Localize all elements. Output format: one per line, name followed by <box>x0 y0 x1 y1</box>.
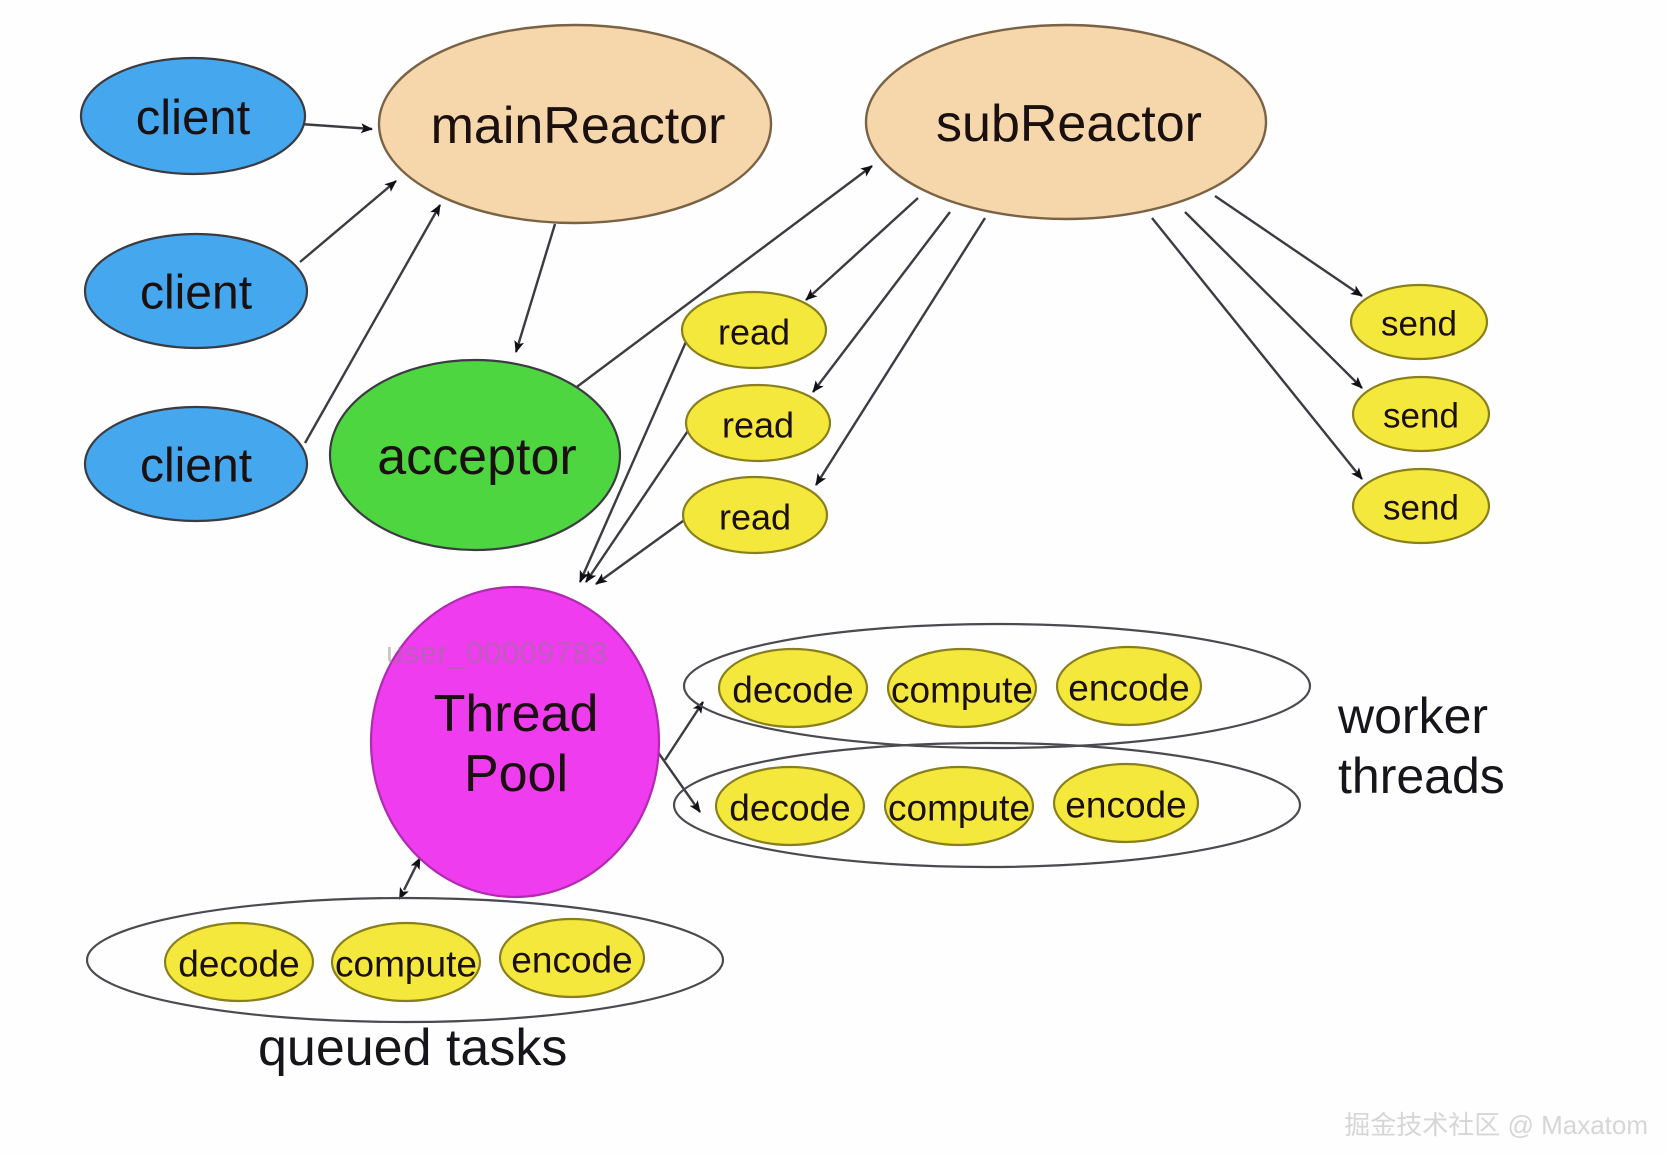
thread-pool-label-line1: Thread <box>434 685 599 743</box>
read-3-label: read <box>719 497 791 538</box>
wt2-decode-label: decode <box>729 788 850 829</box>
send-1-label: send <box>1381 305 1457 344</box>
node-read-1[interactable]: read <box>682 292 826 368</box>
wt1-encode-label: encode <box>1068 668 1189 709</box>
queued-tasks-label: queued tasks <box>258 1019 567 1077</box>
node-wt1-decode[interactable]: decode <box>719 649 867 727</box>
diagram-canvas: client client client mainReactor subReac… <box>0 0 1668 1156</box>
qt-compute-label: compute <box>335 944 477 985</box>
node-qt-encode[interactable]: encode <box>500 919 644 997</box>
wt2-encode-label: encode <box>1065 785 1186 826</box>
read-2-label: read <box>722 405 794 446</box>
qt-encode-label: encode <box>511 940 632 981</box>
worker-threads-label-line1: worker <box>1337 688 1488 744</box>
node-qt-decode[interactable]: decode <box>165 923 313 1001</box>
node-wt2-compute[interactable]: compute <box>885 767 1033 845</box>
node-wt2-decode[interactable]: decode <box>716 767 864 845</box>
node-wt1-encode[interactable]: encode <box>1057 647 1201 725</box>
read-1-label: read <box>718 312 790 353</box>
node-sub-reactor[interactable]: subReactor <box>866 25 1266 219</box>
wt1-decode-label: decode <box>732 670 853 711</box>
node-wt2-encode[interactable]: encode <box>1054 764 1198 842</box>
worker-threads-label-line2: threads <box>1338 748 1505 804</box>
node-qt-compute[interactable]: compute <box>332 923 480 1001</box>
node-main-reactor[interactable]: mainReactor <box>379 25 771 223</box>
client-2-label: client <box>140 267 252 320</box>
send-3-label: send <box>1383 489 1459 528</box>
node-wt1-compute[interactable]: compute <box>888 649 1036 727</box>
send-2-label: send <box>1383 397 1459 436</box>
acceptor-label: acceptor <box>377 428 576 486</box>
wt1-compute-label: compute <box>891 670 1033 711</box>
node-client-1[interactable]: client <box>81 58 305 174</box>
qt-decode-label: decode <box>178 944 299 985</box>
node-send-3[interactable]: send <box>1353 469 1489 543</box>
wt2-compute-label: compute <box>888 788 1030 829</box>
client-3-label: client <box>140 440 252 493</box>
node-read-3[interactable]: read <box>683 477 827 553</box>
node-acceptor[interactable]: acceptor <box>330 360 620 550</box>
main-reactor-label: mainReactor <box>431 97 726 155</box>
sub-reactor-label: subReactor <box>936 95 1202 153</box>
node-layer: client client client mainReactor subReac… <box>0 0 1668 1156</box>
client-1-label: client <box>136 91 251 145</box>
thread-pool-label-line2: Pool <box>464 745 568 803</box>
node-client-3[interactable]: client <box>85 407 307 521</box>
node-send-2[interactable]: send <box>1353 377 1489 451</box>
node-send-1[interactable]: send <box>1351 285 1487 359</box>
node-client-2[interactable]: client <box>85 234 307 348</box>
node-thread-pool[interactable]: Thread Pool <box>371 587 659 897</box>
node-read-2[interactable]: read <box>686 385 830 461</box>
